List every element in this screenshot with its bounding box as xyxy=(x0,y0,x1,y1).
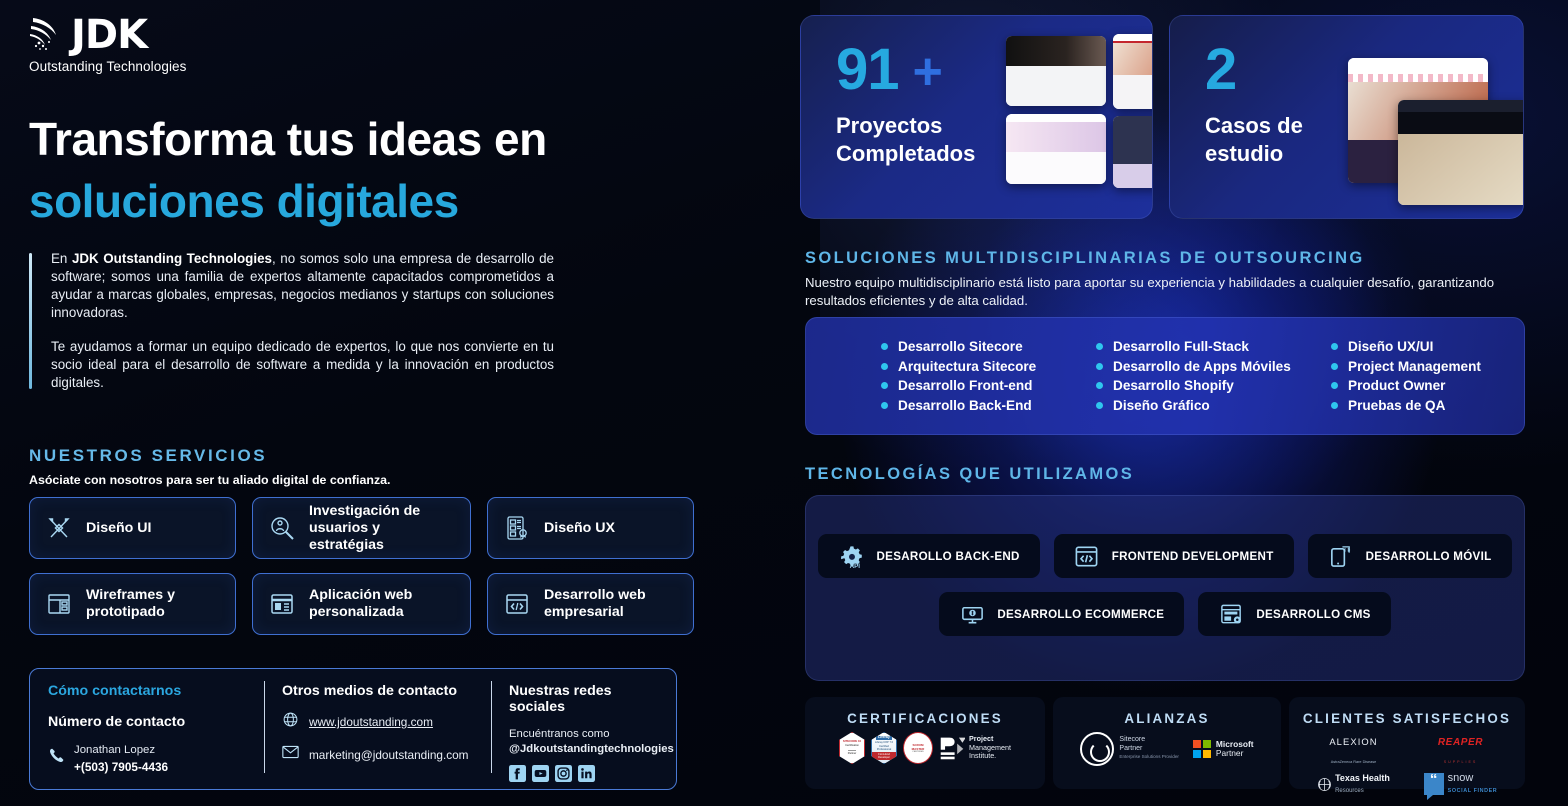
plus-sign: + xyxy=(913,43,942,101)
project-management-institute-logo: Project Management Institute. xyxy=(939,735,1011,761)
contact-column-social: Nuestras redes sociales Encuéntranos com… xyxy=(491,683,676,789)
thumbnail xyxy=(1398,100,1524,205)
skill-item: Product Owner xyxy=(1331,378,1531,393)
tech-pill-frontend[interactable]: FRONTEND DEVELOPMENT xyxy=(1054,534,1294,578)
youtube-icon[interactable] xyxy=(532,765,549,787)
hero-line-2: soluciones digitales xyxy=(29,170,669,232)
tech-pill-cms[interactable]: DESARROLLO CMS xyxy=(1198,592,1390,636)
bullet-dot xyxy=(1331,402,1338,409)
technologies-box: API DESAROLLO BACK-END FRONTEND DEVELOPM… xyxy=(805,495,1525,681)
service-label: Investigación de usuarios y estratégias xyxy=(309,503,456,554)
clients-logos: ALEXION AstraZeneca Rare Disease REAPER … xyxy=(1289,726,1525,796)
bullet-dot xyxy=(1331,363,1338,370)
certifications-logos: SITECORE 10CertificationPartner LiferayL… xyxy=(805,732,1045,764)
intro-paragraph-1: En JDK Outstanding Technologies, no somo… xyxy=(51,250,554,322)
tech-label: DESARROLLO CMS xyxy=(1256,608,1370,621)
stat-number: 91+ xyxy=(836,42,975,100)
skill-item: Desarrollo Sitecore xyxy=(881,339,1096,354)
sitecore-10-certification-badge: SITECORE 10CertificationPartner xyxy=(839,732,865,764)
service-label: Diseño UX xyxy=(544,520,615,537)
social-icons xyxy=(509,765,658,787)
contact-person: Jonathan Lopez xyxy=(74,744,155,756)
contact-subtitle: Número de contacto xyxy=(48,714,246,730)
skills-column-2: Desarrollo Full-Stack Desarrollo de Apps… xyxy=(1096,339,1331,413)
tech-pill-movil[interactable]: DESARROLLO MÓVIL xyxy=(1308,534,1512,578)
intro-block: En JDK Outstanding Technologies, no somo… xyxy=(29,250,554,392)
skills-box: Desarrollo Sitecore Arquitectura Sitecor… xyxy=(805,317,1525,435)
user-research-magnifier-icon xyxy=(267,513,297,543)
other-contact-title: Otros medios de contacto xyxy=(282,683,473,699)
skill-item: Pruebas de QA xyxy=(1331,398,1531,413)
brand-name: JDK xyxy=(71,14,147,56)
monitor-money-icon xyxy=(959,601,985,627)
website-link[interactable]: www.jdoutstanding.com xyxy=(309,715,433,729)
mobile-code-icon xyxy=(1328,543,1354,569)
tech-row-1: API DESAROLLO BACK-END FRONTEND DEVELOPM… xyxy=(806,496,1524,578)
globe-icon xyxy=(282,711,299,733)
skill-item: Desarrollo Front-end xyxy=(881,378,1096,393)
service-label: Aplicación web personalizada xyxy=(309,587,456,621)
intro-paragraph-2: Te ayudamos a formar un equipo dedicado … xyxy=(51,338,554,392)
service-label: Wireframes y prototipado xyxy=(86,587,221,621)
stat-label: Casos deestudio xyxy=(1205,112,1303,168)
microsoft-partner-logo: Microsoft Partner xyxy=(1193,740,1254,759)
bullet-dot xyxy=(1331,382,1338,389)
tech-label: DESAROLLO BACK-END xyxy=(876,550,1019,563)
stat-label: ProyectosCompletados xyxy=(836,112,975,168)
thumbnail xyxy=(1006,114,1106,184)
service-label: Desarrollo web empresarial xyxy=(544,587,679,621)
service-label: Diseño UI xyxy=(86,520,151,537)
skill-item: Project Management xyxy=(1331,359,1531,374)
scrum-master-badge: SCRUMMASTERCERTIFIED xyxy=(903,732,933,764)
services-grid: Diseño UI Investigación de usuarios y es… xyxy=(29,497,677,635)
thumbnail xyxy=(1113,116,1153,188)
contact-column-other: Otros medios de contacto www.jdoutstandi… xyxy=(264,683,491,789)
tech-pill-ecommerce[interactable]: DESARROLLO ECOMMERCE xyxy=(939,592,1184,636)
wireframe-layout-icon xyxy=(44,589,74,619)
social-handle: @Jdkoutstandingtechnologies xyxy=(509,743,674,755)
right-column: 91+ ProyectosCompletados xyxy=(795,0,1568,806)
jdk-swoosh-icon xyxy=(29,14,67,56)
tech-label: DESARROLLO MÓVIL xyxy=(1366,550,1492,563)
brand-logo: JDK Outstanding Technologies xyxy=(29,14,219,92)
technologies-heading: TECNOLOGÍAS QUE UTILIZAMOS xyxy=(805,465,1134,484)
bullet-dot xyxy=(1096,382,1103,389)
liferay-certification-badge: LiferayLiferay DXP 7.0Certified Professi… xyxy=(871,732,897,764)
service-card-aplicacion-web[interactable]: Aplicación web personalizada xyxy=(252,573,471,635)
sitecore-ring-icon xyxy=(1080,732,1114,766)
clients-title: CLIENTES SATISFECHOS xyxy=(1289,711,1525,726)
alexion-logo: ALEXION AstraZeneca Rare Disease xyxy=(1303,732,1404,768)
tech-pill-backend[interactable]: API DESAROLLO BACK-END xyxy=(818,534,1039,578)
skill-item: Desarrollo Full-Stack xyxy=(1096,339,1331,354)
outsourcing-description: Nuestro equipo multidisciplinario está l… xyxy=(805,274,1505,309)
sitecore-partner-logo: Sitecore Partner Enterprise Solutions Pr… xyxy=(1080,732,1179,766)
quote-icon: “ xyxy=(1424,773,1444,795)
skills-column-3: Diseño UX/UI Project Management Product … xyxy=(1331,339,1531,413)
envelope-icon xyxy=(282,745,299,764)
left-column: JDK Outstanding Technologies Transforma … xyxy=(0,0,700,806)
service-card-desarrollo-web[interactable]: Desarrollo web empresarial xyxy=(487,573,694,635)
thumbnail xyxy=(1006,36,1106,106)
bullet-dot xyxy=(881,343,888,350)
service-card-diseno-ui[interactable]: Diseño UI xyxy=(29,497,236,559)
certifications-box: CERTIFICACIONES SITECORE 10Certification… xyxy=(805,697,1045,789)
facebook-icon[interactable] xyxy=(509,765,526,787)
texas-health-resources-logo: Texas Health Resources xyxy=(1303,772,1404,796)
bullet-dot xyxy=(1331,343,1338,350)
skill-item: Desarrollo Shopify xyxy=(1096,378,1331,393)
stat-number: 2 xyxy=(1205,42,1303,100)
contact-title: Cómo contactarnos xyxy=(48,683,246,699)
contact-phone: +(503) 7905-4436 xyxy=(74,760,168,774)
service-card-diseno-ux[interactable]: Diseño UX xyxy=(487,497,694,559)
hero-title: Transforma tus ideas en soluciones digit… xyxy=(29,108,669,232)
services-subheading: Asóciate con nosotros para ser tu aliado… xyxy=(29,473,390,487)
email-address[interactable]: marketing@jdoutstanding.com xyxy=(309,748,469,762)
outsourcing-heading: SOLUCIONES MULTIDISCIPLINARIAS DE OUTSOU… xyxy=(805,249,1365,268)
skills-column-1: Desarrollo Sitecore Arquitectura Sitecor… xyxy=(881,339,1096,413)
skill-item: Desarrollo Back-End xyxy=(881,398,1096,413)
cms-gear-icon xyxy=(1218,601,1244,627)
svg-text:API: API xyxy=(850,563,861,569)
service-card-wireframes[interactable]: Wireframes y prototipado xyxy=(29,573,236,635)
partner-logo-boxes: CERTIFICACIONES SITECORE 10Certification… xyxy=(805,697,1525,789)
ux-document-icon xyxy=(502,513,532,543)
brand-tagline: Outstanding Technologies xyxy=(29,59,219,74)
alliances-box: ALIANZAS Sitecore Partner Enterprise Sol… xyxy=(1053,697,1281,789)
email-row[interactable]: marketing@jdoutstanding.com xyxy=(282,745,473,764)
code-window-icon xyxy=(1074,543,1100,569)
alliances-title: ALIANZAS xyxy=(1053,711,1281,726)
tech-row-2: DESARROLLO ECOMMERCE DESARROLLO CMS xyxy=(806,578,1524,636)
skill-item: Desarrollo de Apps Móviles xyxy=(1096,359,1331,374)
bullet-dot xyxy=(881,363,888,370)
stats-row: 91+ ProyectosCompletados xyxy=(800,15,1524,219)
skill-item: Arquitectura Sitecore xyxy=(881,359,1096,374)
bullet-dot xyxy=(1096,402,1103,409)
pen-ruler-icon xyxy=(44,513,74,543)
contact-card: Cómo contactarnos Número de contacto Jon… xyxy=(29,668,677,790)
contact-phone-row[interactable]: Jonathan Lopez +(503) 7905-4436 xyxy=(48,740,246,776)
tech-label: DESARROLLO ECOMMERCE xyxy=(997,608,1164,621)
code-window-icon xyxy=(502,589,532,619)
services-heading: NUESTROS SERVICIOS xyxy=(29,446,267,466)
tech-label: FRONTEND DEVELOPMENT xyxy=(1112,550,1274,563)
social-title: Nuestras redes sociales xyxy=(509,683,658,715)
skill-item: Diseño UX/UI xyxy=(1331,339,1531,354)
snow-social-finder-logo: “ snow SOCIAL FINDER xyxy=(1410,772,1511,796)
website-row[interactable]: www.jdoutstanding.com xyxy=(282,711,473,733)
stat-card-proyectos: 91+ ProyectosCompletados xyxy=(800,15,1153,219)
microsoft-squares-icon xyxy=(1193,740,1211,758)
gear-api-icon: API xyxy=(838,543,864,569)
bullet-dot xyxy=(881,402,888,409)
hero-line-1: Transforma tus ideas en xyxy=(29,113,547,165)
bullet-dot xyxy=(1096,363,1103,370)
linkedin-icon[interactable] xyxy=(578,765,595,787)
instagram-icon[interactable] xyxy=(555,765,572,787)
phone-icon xyxy=(48,747,65,769)
bullet-dot xyxy=(881,382,888,389)
web-app-window-icon xyxy=(267,589,297,619)
social-find-us: Encuéntranos como@Jdkoutstandingtechnolo… xyxy=(509,727,658,757)
clients-box: CLIENTES SATISFECHOS ALEXION AstraZeneca… xyxy=(1289,697,1525,789)
certifications-title: CERTIFICACIONES xyxy=(805,711,1045,726)
stat-card-casos: 2 Casos deestudio xyxy=(1169,15,1524,219)
contact-column-phone: Cómo contactarnos Número de contacto Jon… xyxy=(30,683,264,789)
thumbnail xyxy=(1113,34,1153,109)
poster-root: JDK Outstanding Technologies Transforma … xyxy=(0,0,1568,806)
bullet-dot xyxy=(1096,343,1103,350)
reaper-logo: REAPER SUPPLIES xyxy=(1410,732,1511,768)
skill-item: Diseño Gráfico xyxy=(1096,398,1331,413)
alliances-logos: Sitecore Partner Enterprise Solutions Pr… xyxy=(1053,732,1281,766)
service-card-investigacion-usuarios[interactable]: Investigación de usuarios y estratégias xyxy=(252,497,471,559)
